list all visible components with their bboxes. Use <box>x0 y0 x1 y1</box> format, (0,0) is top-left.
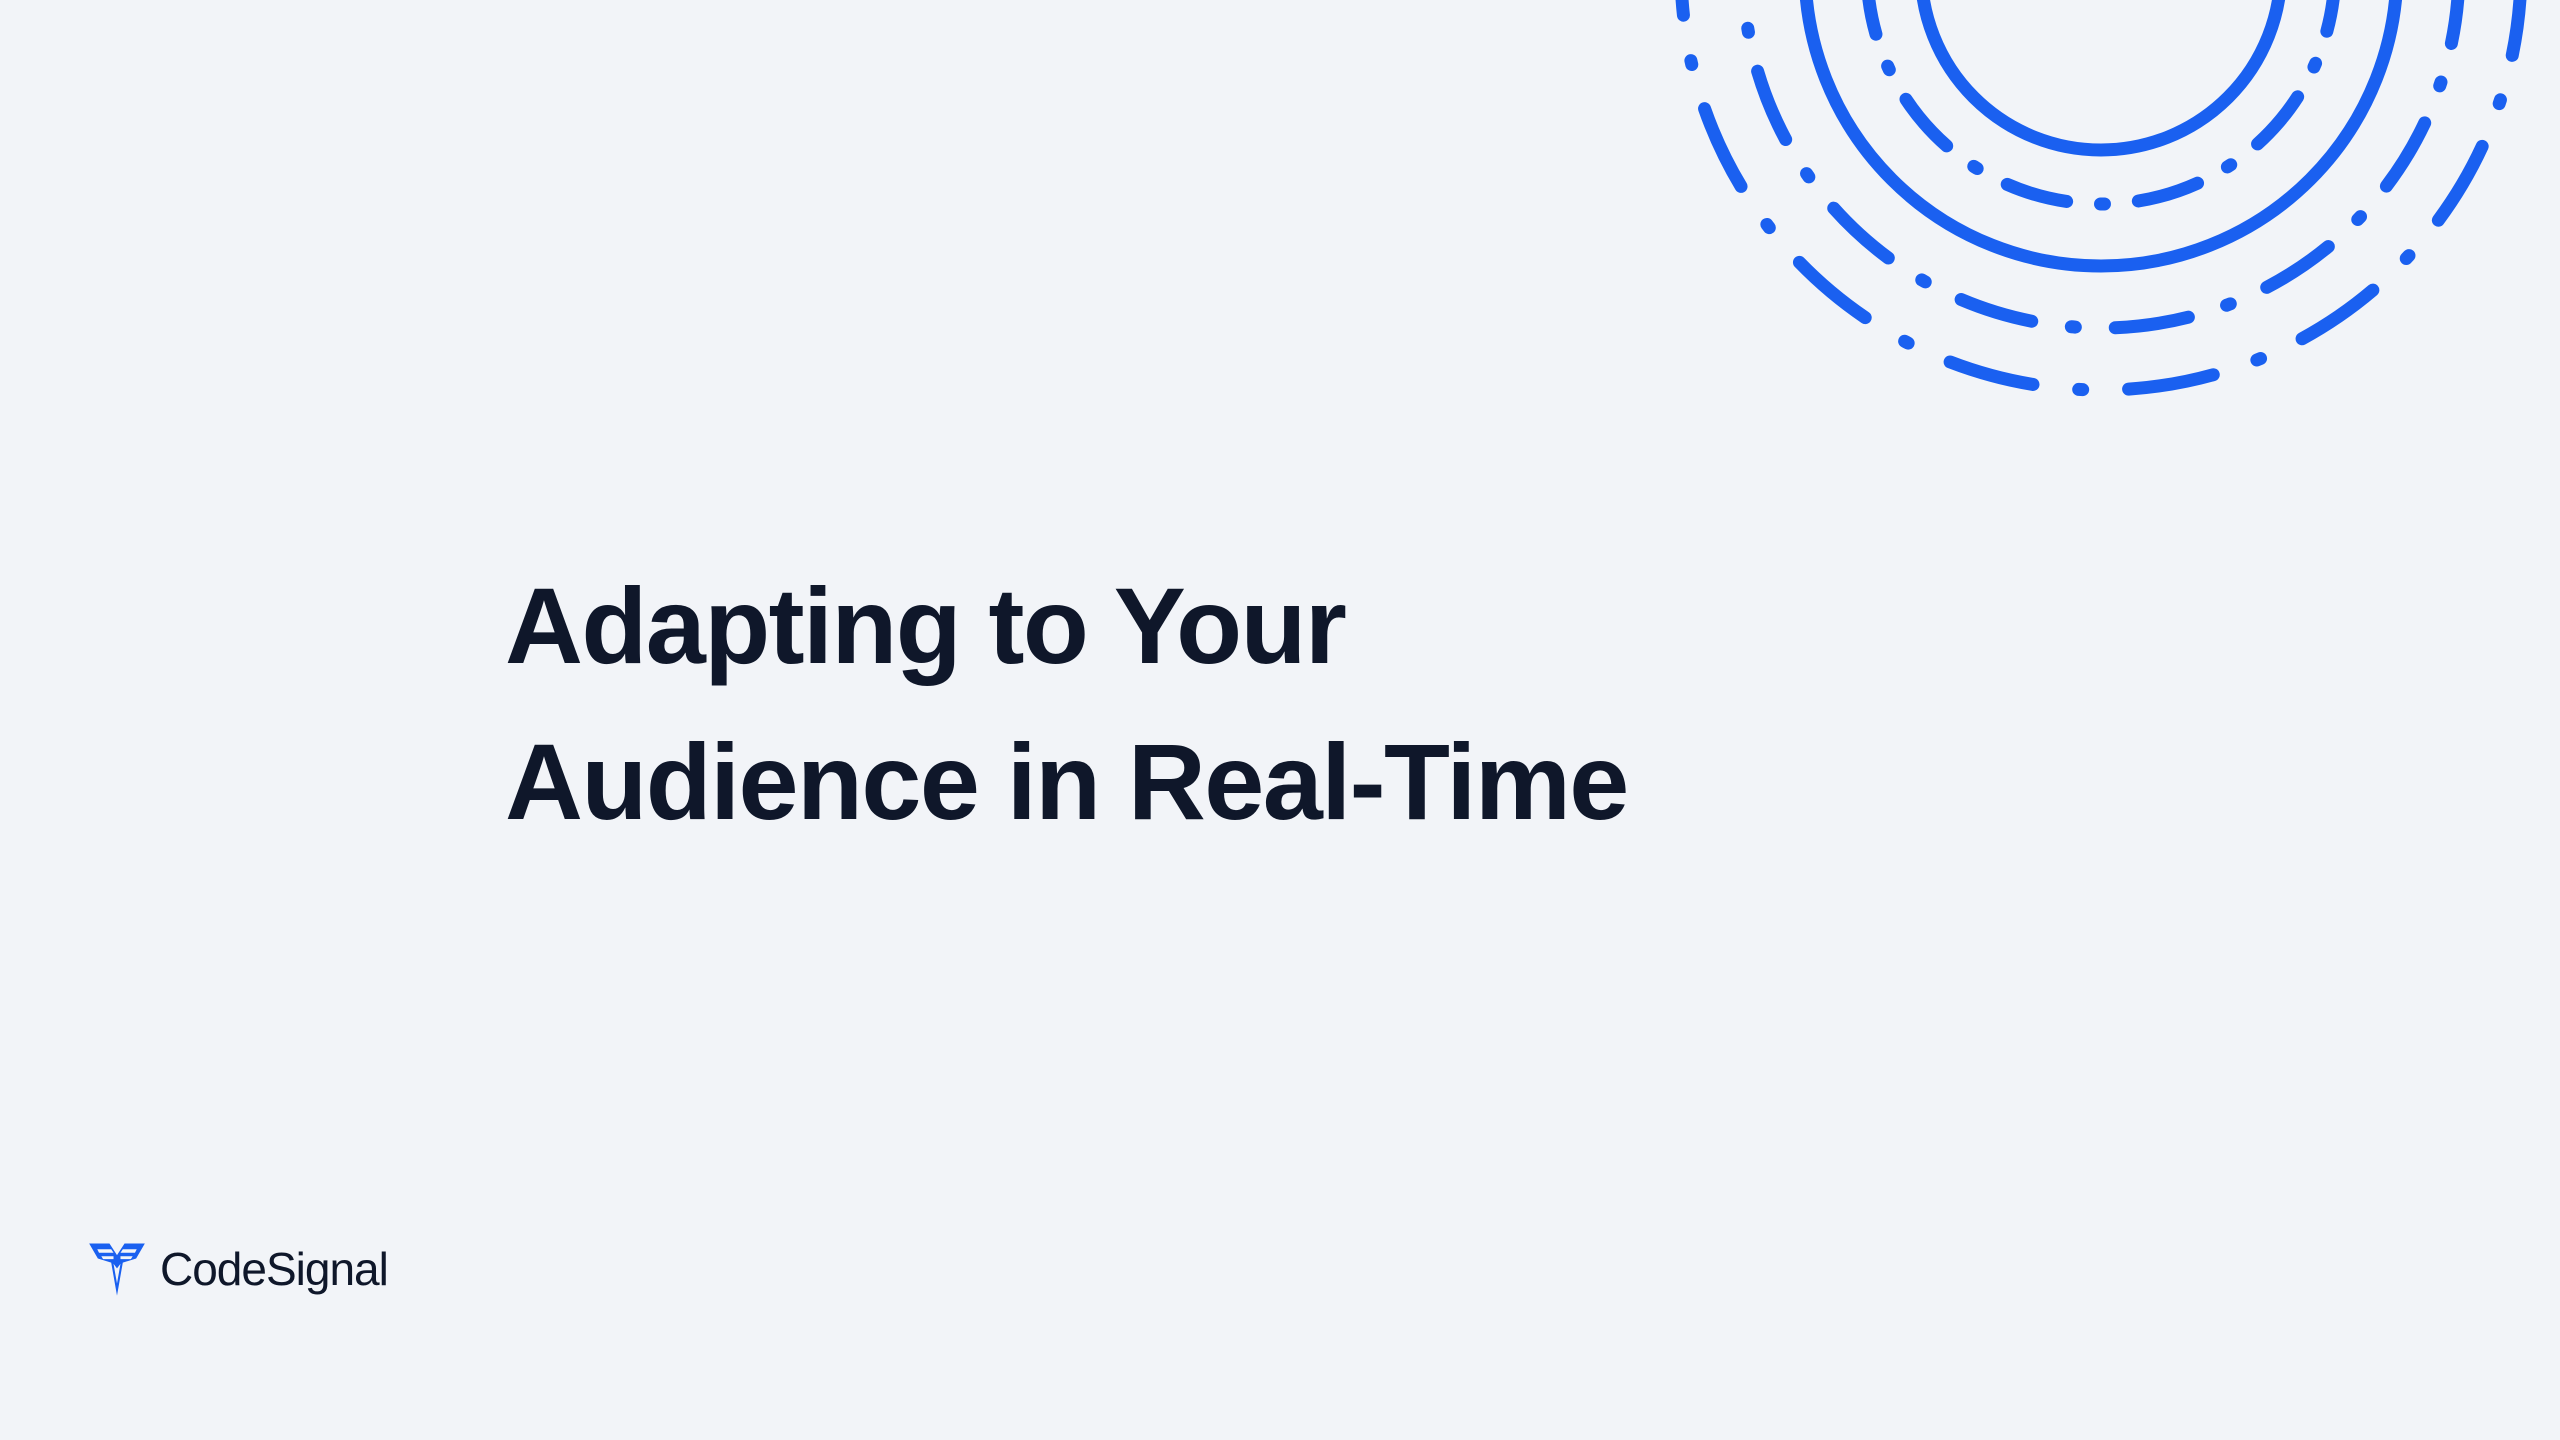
deco-ring-1 <box>1921 0 2281 150</box>
page-title-line-1: Adapting to Your <box>505 548 2005 704</box>
page-title: Adapting to Your Audience in Real-Time <box>505 548 2005 860</box>
slide-canvas: Adapting to Your Audience in Real-Time C… <box>0 0 2560 1440</box>
concentric-arc-rings-decoration <box>1660 0 2560 420</box>
deco-ring-4 <box>1743 0 2459 328</box>
brand-wordmark: CodeSignal <box>160 1246 388 1292</box>
codesignal-falcon-icon <box>88 1240 146 1298</box>
deco-ring-2 <box>1867 0 2335 204</box>
deco-ring-5 <box>1681 0 2521 390</box>
decoration-svg <box>1660 0 2560 420</box>
brand-logo: CodeSignal <box>88 1238 388 1300</box>
page-title-line-2: Audience in Real-Time <box>505 704 2005 860</box>
deco-ring-3 <box>1805 0 2397 266</box>
